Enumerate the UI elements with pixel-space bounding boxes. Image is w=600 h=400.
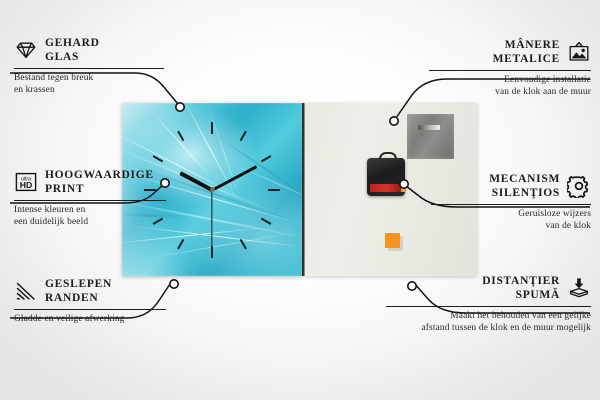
callout-title: MECANISM SILENŢIOS: [489, 172, 560, 201]
callout-rule: [386, 306, 591, 307]
diamond-icon: [14, 38, 38, 62]
callout-subtitle: Intense kleuren en een duidelijk beeld: [14, 204, 166, 228]
callout-rule: [429, 70, 591, 71]
callout-manere-metalice: MÂNERE METALICE Eenvoudige installatie v…: [429, 38, 591, 98]
callout-hoogwaardige-print: ultra HD HOOGWAARDIGE PRINT Intense kleu…: [14, 168, 166, 228]
callout-title: MÂNERE METALICE: [493, 38, 560, 67]
ultra-hd-icon: ultra HD: [14, 170, 38, 194]
spacer-press-icon: [567, 276, 591, 300]
callout-header: GEHARD GLAS: [14, 36, 164, 65]
metal-hanger-part: [407, 114, 454, 159]
callout-subtitle: Eenvoudige installatie van de klok aan d…: [429, 74, 591, 98]
mechanism-loop: [379, 152, 397, 163]
callout-rule: [431, 204, 591, 205]
battery-part: [370, 184, 401, 192]
callout-rule: [14, 309, 166, 310]
callout-rule: [14, 68, 164, 69]
callout-rule: [14, 200, 166, 201]
callout-gehard-glas: GEHARD GLAS Bestand tegen breuk en krass…: [14, 36, 164, 96]
callout-subtitle: Gladde en veilige afwerking: [14, 313, 166, 325]
clock-center-cap: [210, 187, 215, 192]
bevelled-edges-icon: [14, 279, 38, 303]
callout-header: MECANISM SILENŢIOS: [431, 172, 591, 201]
foam-spacer-part: [385, 233, 400, 248]
callout-header: GESLEPEN RANDEN: [14, 277, 166, 306]
callout-subtitle: Bestand tegen breuk en krassen: [14, 72, 164, 96]
callout-header: ultra HD HOOGWAARDIGE PRINT: [14, 168, 166, 197]
callout-header: MÂNERE METALICE: [429, 38, 591, 67]
callout-header: DISTANŢIER SPUMĂ: [386, 274, 591, 303]
hanger-slot: [418, 125, 440, 130]
callout-geslepen-randen: GESLEPEN RANDEN Gladde en veilige afwerk…: [14, 277, 166, 325]
quartz-mechanism-part: [367, 158, 405, 196]
picture-hanger-icon: [567, 40, 591, 64]
callout-title: DISTANŢIER SPUMĂ: [482, 274, 560, 303]
callout-title: GESLEPEN RANDEN: [45, 277, 112, 306]
callout-title: GEHARD GLAS: [45, 36, 100, 65]
gear-icon: [567, 174, 591, 198]
callout-mecanism-silentios: MECANISM SILENŢIOS Geruisloze wijzers va…: [431, 172, 591, 232]
callout-title: HOOGWAARDIGE PRINT: [45, 168, 154, 197]
connector-dot-geslepen-randen: [170, 280, 178, 288]
infographic-stage: GEHARD GLAS Bestand tegen breuk en krass…: [0, 0, 600, 400]
product-photo: [122, 103, 477, 276]
battery-tip: [401, 184, 406, 192]
callout-distantier-spuma: DISTANŢIER SPUMĂ Maakt het behouden van …: [386, 274, 591, 334]
svg-text:HD: HD: [20, 180, 32, 190]
callout-subtitle: Geruisloze wijzers van de klok: [431, 208, 591, 232]
callout-subtitle: Maakt het behouden van een gelijke afsta…: [386, 310, 591, 334]
